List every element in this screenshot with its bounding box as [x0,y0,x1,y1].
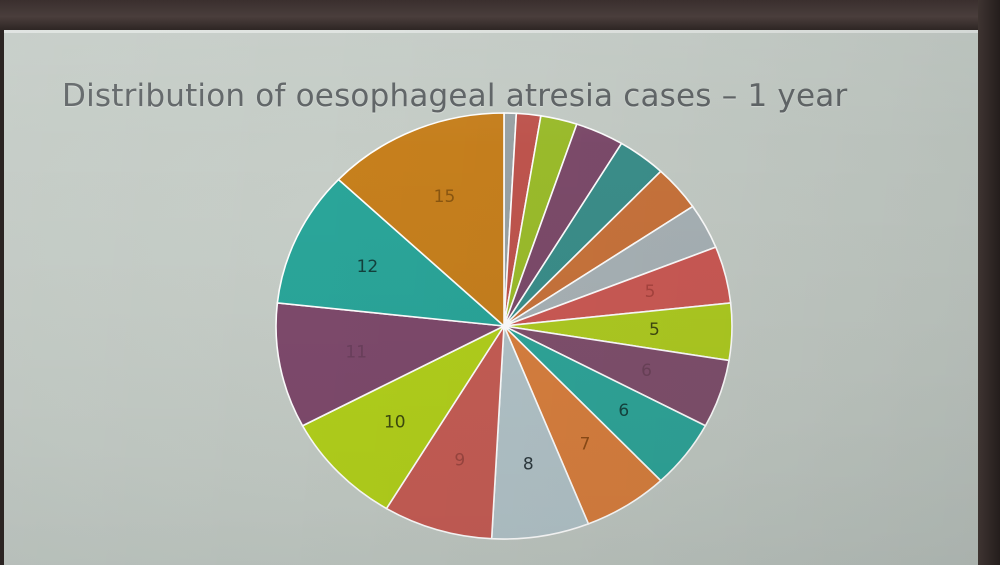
pie-chart: 556678910111215 [4,30,978,565]
projector-frame-top [0,0,1000,30]
projector-frame-right [978,0,1000,565]
presentation-slide: Distribution of oesophageal atresia case… [4,30,978,565]
pie-slices-group [276,113,732,539]
screenshot-root: Distribution of oesophageal atresia case… [0,0,1000,565]
pie-chart-svg: 556678910111215 [4,30,978,565]
